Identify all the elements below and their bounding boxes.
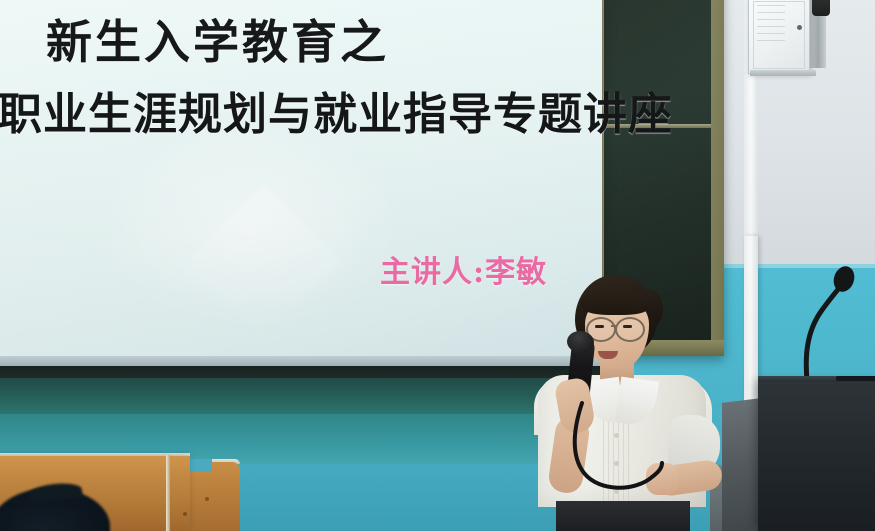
speaker-trousers (556, 501, 690, 531)
screen-watermark (186, 184, 342, 340)
microphone-cable (500, 275, 780, 531)
electrical-panel-box (748, 0, 810, 74)
bench-screw (183, 512, 187, 516)
panel-lock-icon (797, 25, 802, 30)
lecture-photo-scene: 新生入学教育之 职业生涯规划与就业指导专题讲座 主讲人:李敏 (0, 0, 875, 531)
bench-screw (205, 497, 209, 501)
slide-title-line-1: 新生入学教育之 (46, 6, 389, 72)
panel-foot (750, 70, 816, 76)
bench-notch (190, 459, 212, 472)
bench-seam (166, 455, 170, 531)
ceiling-camera-icon (812, 0, 830, 16)
speaker-figure (500, 275, 780, 531)
panel-text-lines (757, 5, 785, 45)
podium-cable-strip (836, 376, 875, 381)
slide-title-line-2: 职业生涯规划与就业指导专题讲座 (0, 78, 673, 142)
